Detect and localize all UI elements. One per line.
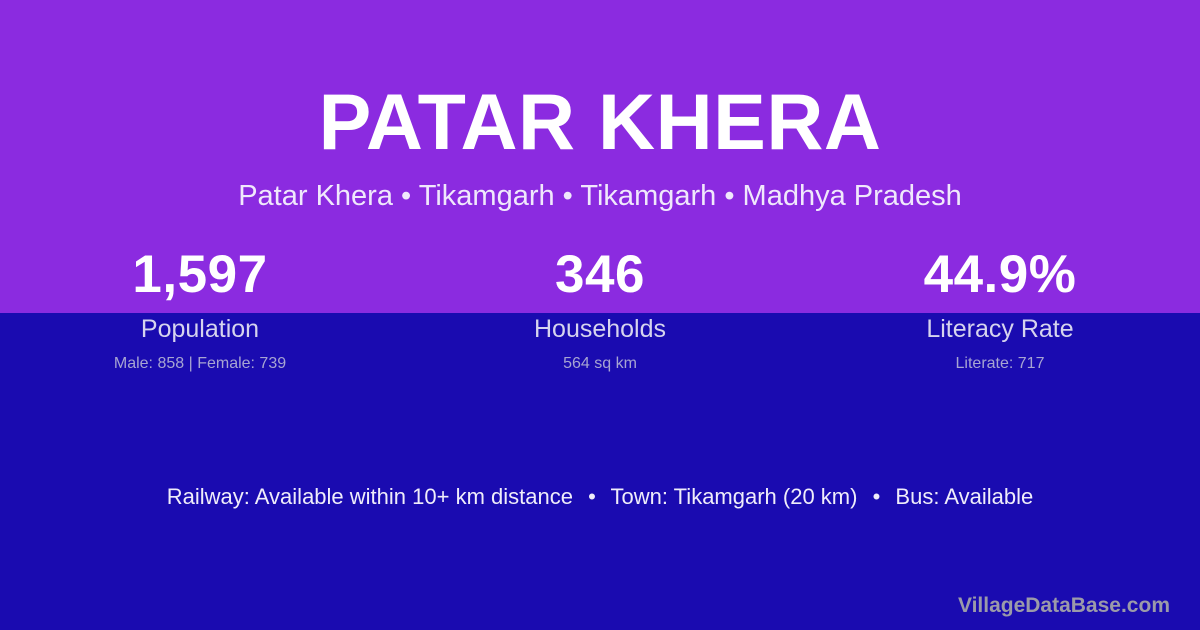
facility-separator-icon: • <box>579 486 605 508</box>
stat-literacy-rate: 44.9% Literacy Rate Literate: 717 <box>800 248 1200 372</box>
stat-value: 346 <box>400 248 800 301</box>
stat-population: 1,597 Population Male: 858 | Female: 739 <box>0 248 400 372</box>
stats-row: 1,597 Population Male: 858 | Female: 739… <box>0 248 1200 372</box>
breadcrumb: Patar Khera • Tikamgarh • Tikamgarh • Ma… <box>0 161 1200 211</box>
facilities-line: Railway: Available within 10+ km distanc… <box>0 486 1200 508</box>
page-title: PATAR KHERA <box>0 0 1200 161</box>
card-header: PATAR KHERA Patar Khera • Tikamgarh • Ti… <box>0 0 1200 211</box>
stat-label: Households <box>400 317 800 342</box>
facility-town: Town: Tikamgarh (20 km) <box>611 484 858 509</box>
village-info-card: PATAR KHERA Patar Khera • Tikamgarh • Ti… <box>0 0 1200 630</box>
stat-label: Literacy Rate <box>800 317 1200 342</box>
facility-separator-icon: • <box>864 486 890 508</box>
stat-value: 44.9% <box>800 248 1200 301</box>
stat-sublabel: Male: 858 | Female: 739 <box>0 356 400 372</box>
stat-value: 1,597 <box>0 248 400 301</box>
stat-sublabel: 564 sq km <box>400 356 800 372</box>
facility-railway: Railway: Available within 10+ km distanc… <box>167 484 573 509</box>
stat-sublabel: Literate: 717 <box>800 356 1200 372</box>
site-brand: VillageDataBase.com <box>958 595 1170 616</box>
stat-label: Population <box>0 317 400 342</box>
stat-households: 346 Households 564 sq km <box>400 248 800 372</box>
facility-bus: Bus: Available <box>895 484 1033 509</box>
